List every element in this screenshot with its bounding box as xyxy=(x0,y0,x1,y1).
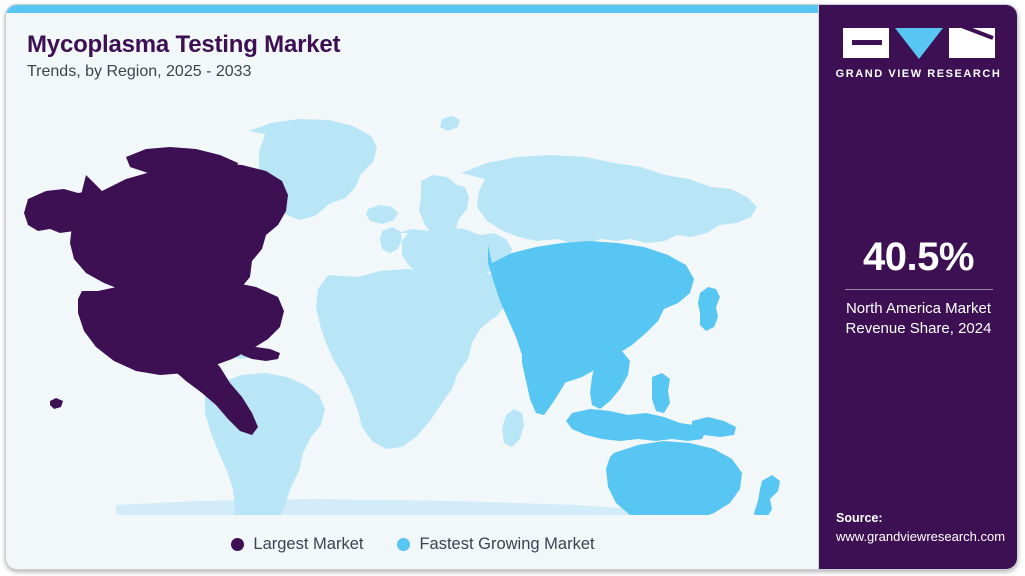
sidebar-panel: GRAND VIEW RESEARCH 40.5% North America … xyxy=(818,5,1017,569)
logo-v-triangle-icon xyxy=(895,28,943,59)
source-block: Source: www.grandviewresearch.com xyxy=(836,509,1012,547)
map-legend: Largest Market Fastest Growing Market xyxy=(6,535,820,554)
world-map-svg xyxy=(6,95,820,515)
legend-label: Fastest Growing Market xyxy=(419,535,594,554)
legend-label: Largest Market xyxy=(253,535,363,554)
logo-g-icon xyxy=(843,28,889,58)
page-title: Mycoplasma Testing Market xyxy=(27,31,340,59)
logo-wordmark: GRAND VIEW RESEARCH xyxy=(836,68,1002,80)
map-pane: Mycoplasma Testing Market Trends, by Reg… xyxy=(6,5,820,569)
source-url[interactable]: www.grandviewresearch.com xyxy=(836,528,1012,547)
page-subtitle: Trends, by Region, 2025 - 2033 xyxy=(27,63,251,81)
logo-r-icon xyxy=(949,28,995,58)
stat-divider xyxy=(845,289,993,290)
region-philippines xyxy=(652,373,670,413)
legend-item-fastest-growing-market[interactable]: Fastest Growing Market xyxy=(397,535,594,554)
stat-block: 40.5% North America Market Revenue Share… xyxy=(819,237,1018,339)
world-map xyxy=(6,95,820,515)
logo-marks xyxy=(843,27,995,59)
accent-top-strip xyxy=(6,5,820,13)
source-title: Source: xyxy=(836,509,1012,528)
legend-item-largest-market[interactable]: Largest Market xyxy=(231,535,363,554)
stat-label-line1: North America Market xyxy=(819,299,1018,319)
dot-icon xyxy=(397,538,410,551)
infographic-card: Mycoplasma Testing Market Trends, by Reg… xyxy=(5,4,1018,570)
stat-label-line2: Revenue Share, 2024 xyxy=(819,319,1018,339)
brand-logo[interactable]: GRAND VIEW RESEARCH xyxy=(819,27,1018,80)
stat-value: 40.5% xyxy=(819,237,1018,277)
dot-icon xyxy=(231,538,244,551)
